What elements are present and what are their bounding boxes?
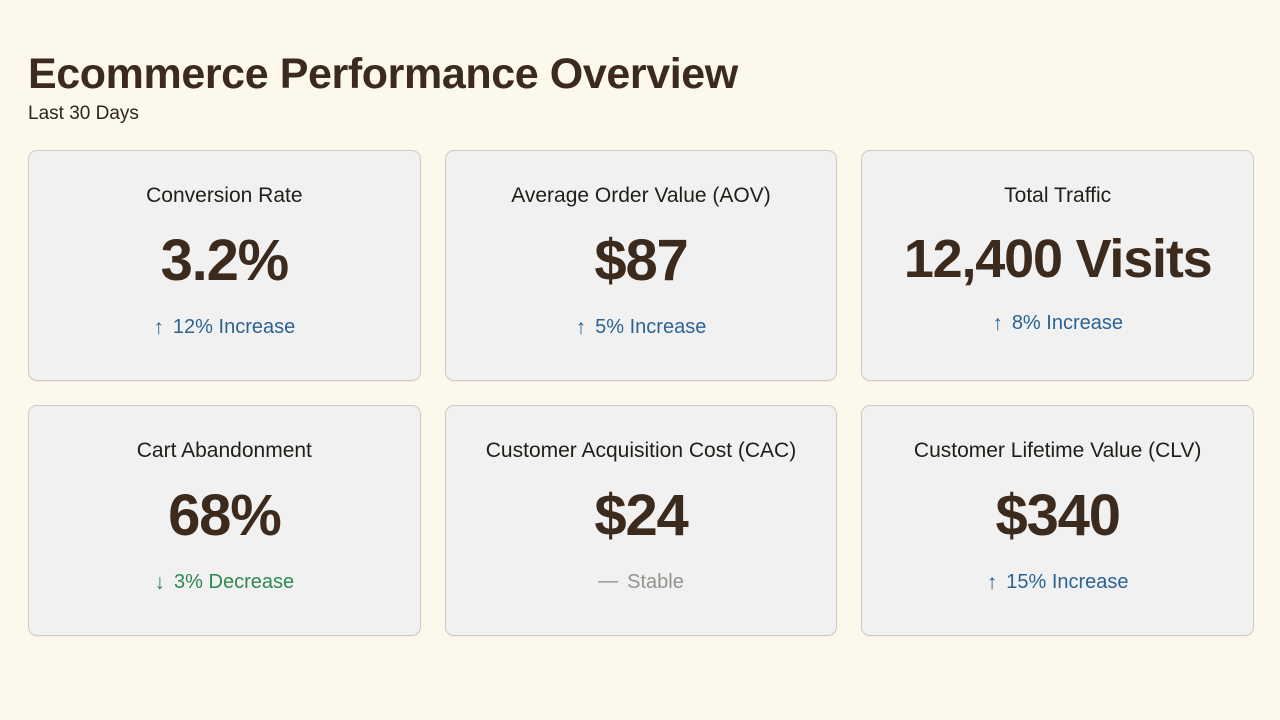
kpi-card-delta: ↑ 5% Increase <box>576 315 707 339</box>
kpi-card-total-traffic[interactable]: Total Traffic 12,400 Visits ↑ 8% Increas… <box>861 150 1254 381</box>
kpi-card-value: $340 <box>996 486 1120 547</box>
kpi-card-value: 3.2% <box>161 231 288 292</box>
kpi-card-label: Cart Abandonment <box>137 438 312 463</box>
arrow-up-icon: ↑ <box>576 317 587 338</box>
kpi-card-delta-label: 8% Increase <box>1012 311 1123 335</box>
arrow-up-icon: ↑ <box>153 317 164 338</box>
kpi-card-delta: ↑ 12% Increase <box>153 315 295 339</box>
kpi-card-delta: ↓ 3% Decrease <box>155 570 295 594</box>
kpi-card-cart-abandonment[interactable]: Cart Abandonment 68% ↓ 3% Decrease <box>28 405 421 636</box>
kpi-card-delta-label: 5% Increase <box>595 315 706 339</box>
kpi-card-value: $24 <box>594 486 687 547</box>
kpi-card-label: Total Traffic <box>1004 183 1111 208</box>
kpi-card-value: 68% <box>168 486 281 547</box>
kpi-card-customer-lifetime-value[interactable]: Customer Lifetime Value (CLV) $340 ↑ 15%… <box>861 405 1254 636</box>
dash-icon: — <box>598 571 618 591</box>
kpi-card-label: Conversion Rate <box>146 183 302 208</box>
kpi-card-delta-label: 15% Increase <box>1006 570 1128 594</box>
kpi-card-value: 12,400 Visits <box>904 231 1212 288</box>
kpi-card-label: Customer Lifetime Value (CLV) <box>914 438 1202 463</box>
kpi-card-delta: ↑ 8% Increase <box>992 311 1123 335</box>
kpi-card-label: Average Order Value (AOV) <box>511 183 771 208</box>
dashboard-header: Ecommerce Performance Overview Last 30 D… <box>28 52 1254 127</box>
kpi-card-delta-label: 3% Decrease <box>174 570 294 594</box>
kpi-card-delta: ↑ 15% Increase <box>987 570 1129 594</box>
kpi-card-average-order-value[interactable]: Average Order Value (AOV) $87 ↑ 5% Incre… <box>445 150 838 381</box>
kpi-card-grid: Conversion Rate 3.2% ↑ 12% Increase Aver… <box>28 150 1254 636</box>
arrow-up-icon: ↑ <box>987 572 998 593</box>
kpi-card-delta-label: Stable <box>627 570 684 594</box>
kpi-card-conversion-rate[interactable]: Conversion Rate 3.2% ↑ 12% Increase <box>28 150 421 381</box>
dashboard-page: Ecommerce Performance Overview Last 30 D… <box>0 0 1280 720</box>
page-subtitle: Last 30 Days <box>28 101 1254 128</box>
page-title: Ecommerce Performance Overview <box>28 52 1254 97</box>
kpi-card-delta: — Stable <box>598 570 684 594</box>
kpi-card-label: Customer Acquisition Cost (CAC) <box>486 438 796 463</box>
arrow-up-icon: ↑ <box>992 313 1003 334</box>
arrow-down-icon: ↓ <box>155 572 166 593</box>
kpi-card-delta-label: 12% Increase <box>173 315 295 339</box>
kpi-card-customer-acquisition-cost[interactable]: Customer Acquisition Cost (CAC) $24 — St… <box>445 405 838 636</box>
kpi-card-value: $87 <box>594 231 687 292</box>
